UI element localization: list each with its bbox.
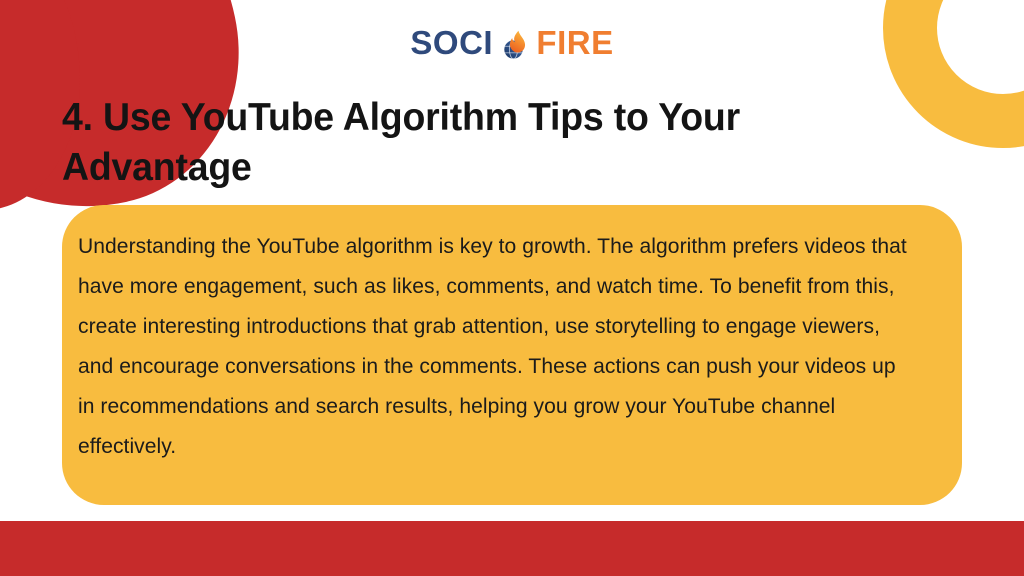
- globe-flame-icon: [502, 30, 528, 60]
- brand-name-primary: SOCI: [410, 24, 493, 61]
- page-title: 4. Use YouTube Algorithm Tips to Your Ad…: [62, 93, 820, 193]
- brand-name-secondary: FIRE: [536, 24, 613, 61]
- brand-logo-wordmark: SOCI: [410, 26, 613, 60]
- yellow-ring-decoration: [883, 0, 1024, 148]
- body-paragraph: Understanding the YouTube algorithm is k…: [78, 227, 907, 467]
- red-footer-bar: [0, 521, 1024, 576]
- body-content-card: Understanding the YouTube algorithm is k…: [62, 205, 962, 505]
- brand-logo: SOCI: [0, 26, 1024, 60]
- slide-canvas: SOCI: [0, 0, 1024, 576]
